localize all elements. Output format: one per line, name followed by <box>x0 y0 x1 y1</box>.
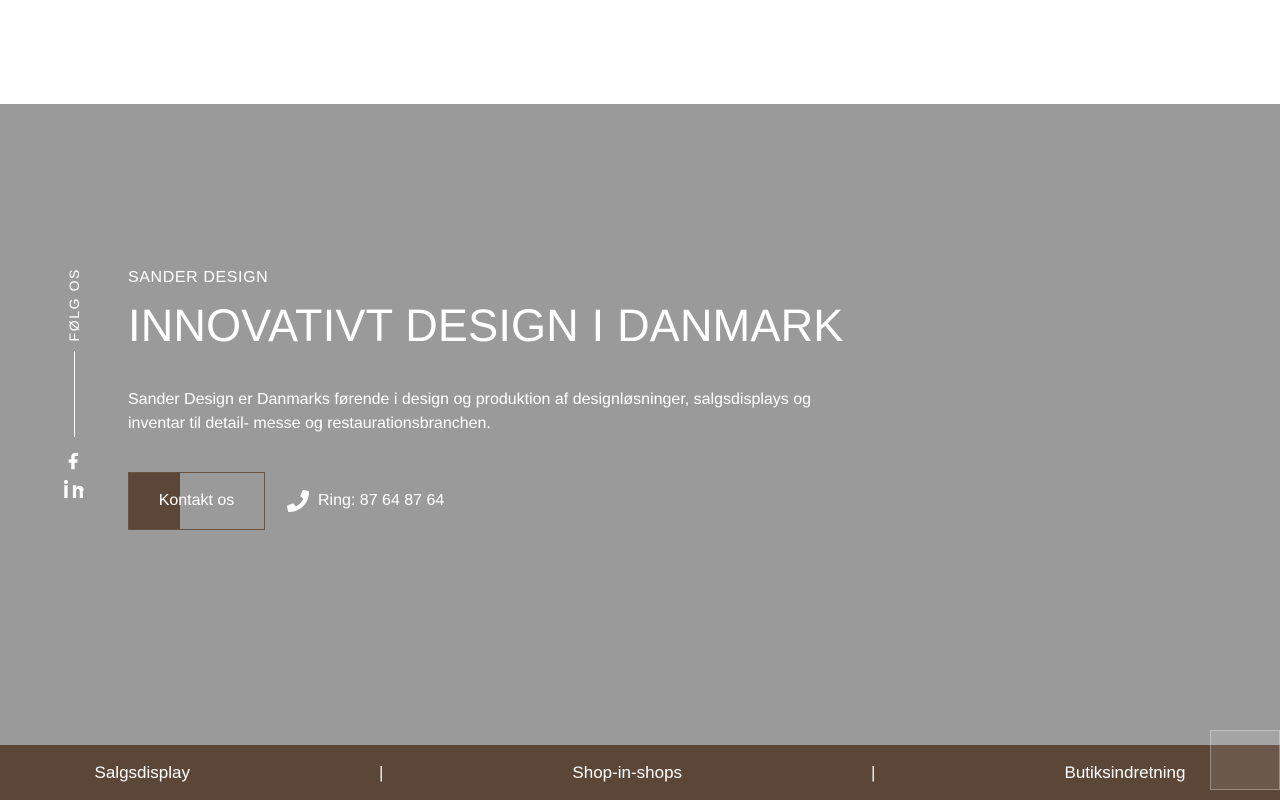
hero-section: FØLG OS <box>0 104 1280 745</box>
rail-divider-line <box>74 351 75 437</box>
social-link-linkedin[interactable] <box>62 477 86 501</box>
site-header <box>0 0 1280 104</box>
quick-nav-item-salgsdisplay[interactable]: Salgsdisplay <box>95 764 190 781</box>
phone-label: Ring: 87 64 87 64 <box>318 492 444 510</box>
page-root: FØLG OS <box>0 0 1280 800</box>
contact-button-label: Kontakt os <box>159 492 235 510</box>
social-link-facebook[interactable] <box>63 449 85 473</box>
hero-eyebrow: SANDER DESIGN <box>128 268 888 287</box>
linkedin-icon <box>62 477 86 501</box>
phone-icon <box>287 490 309 512</box>
contact-button[interactable]: Kontakt os <box>128 472 265 530</box>
follow-us-label: FØLG OS <box>67 268 81 341</box>
hero-description: Sander Design er Danmarks førende i desi… <box>128 388 828 436</box>
hero-headline: INNOVATIVT DESIGN I DANMARK <box>128 301 888 351</box>
social-rail: FØLG OS <box>58 268 90 501</box>
hero-copy: SANDER DESIGN INNOVATIVT DESIGN I DANMAR… <box>128 268 888 530</box>
quick-nav-inner: Salgsdisplay | Shop-in-shops | Butiksind… <box>0 764 1280 781</box>
hero-cta-row: Kontakt os Ring: 87 64 87 64 <box>128 472 888 530</box>
recaptcha-badge[interactable] <box>1210 730 1280 790</box>
quick-nav-separator-2: | <box>871 764 875 781</box>
phone-link[interactable]: Ring: 87 64 87 64 <box>287 490 444 512</box>
social-links <box>62 449 86 501</box>
facebook-icon <box>63 449 85 473</box>
quick-nav-bar: Salgsdisplay | Shop-in-shops | Butiksind… <box>0 745 1280 800</box>
quick-nav-separator-1: | <box>379 764 383 781</box>
quick-nav-item-shop-in-shops[interactable]: Shop-in-shops <box>572 764 682 781</box>
quick-nav-item-butiksindretning[interactable]: Butiksindretning <box>1064 764 1185 781</box>
